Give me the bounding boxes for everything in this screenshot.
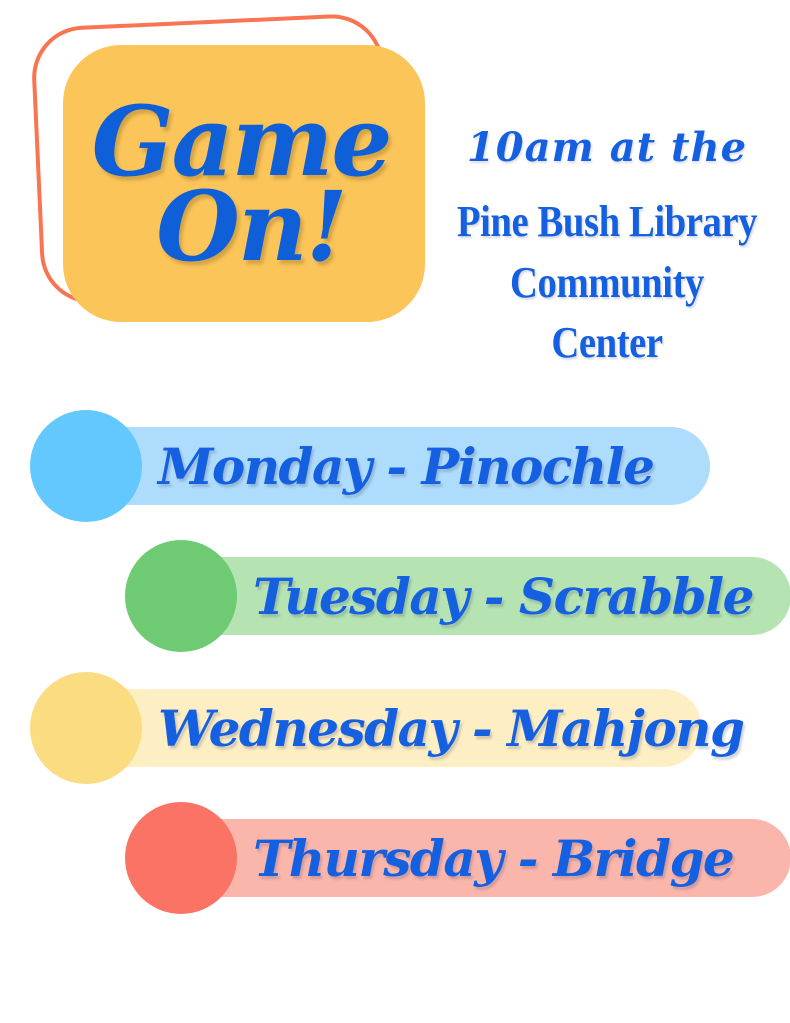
schedule-row-thursday: Thursday - Bridge xyxy=(125,802,790,914)
schedule-row-dot-icon xyxy=(125,802,237,914)
logo-card: Game On! xyxy=(63,45,425,322)
schedule-row-label: Tuesday - Scrabble xyxy=(253,540,753,652)
poster-canvas: Game On! 10am at the Pine Bush Library C… xyxy=(0,0,790,1023)
schedule-row-monday: Monday - Pinochle xyxy=(30,410,730,522)
schedule-row-dot-icon xyxy=(30,410,142,522)
event-venue-text: Pine Bush Library Community Center xyxy=(432,192,782,374)
venue-line-2: Community xyxy=(453,253,761,314)
schedule-row-tuesday: Tuesday - Scrabble xyxy=(125,540,790,652)
schedule-row-wednesday: Wednesday - Mahjong xyxy=(30,672,730,784)
logo-text-wrap: Game On! xyxy=(63,45,425,322)
event-time-text: 10am at the xyxy=(432,126,782,170)
schedule-row-label: Monday - Pinochle xyxy=(158,410,653,522)
schedule-row-dot-icon xyxy=(30,672,142,784)
schedule-row-dot-icon xyxy=(125,540,237,652)
schedule-row-label: Wednesday - Mahjong xyxy=(158,672,744,784)
schedule-row-label: Thursday - Bridge xyxy=(253,802,733,914)
event-info-block: 10am at the Pine Bush Library Community … xyxy=(432,126,782,374)
venue-line-1: Pine Bush Library xyxy=(453,192,761,253)
logo-title-line-2: On! xyxy=(156,183,346,271)
poster-header: Game On! 10am at the Pine Bush Library C… xyxy=(0,0,790,400)
schedule-list: Monday - Pinochle Tuesday - Scrabble Wed… xyxy=(0,410,790,930)
venue-line-3: Center xyxy=(453,313,761,374)
